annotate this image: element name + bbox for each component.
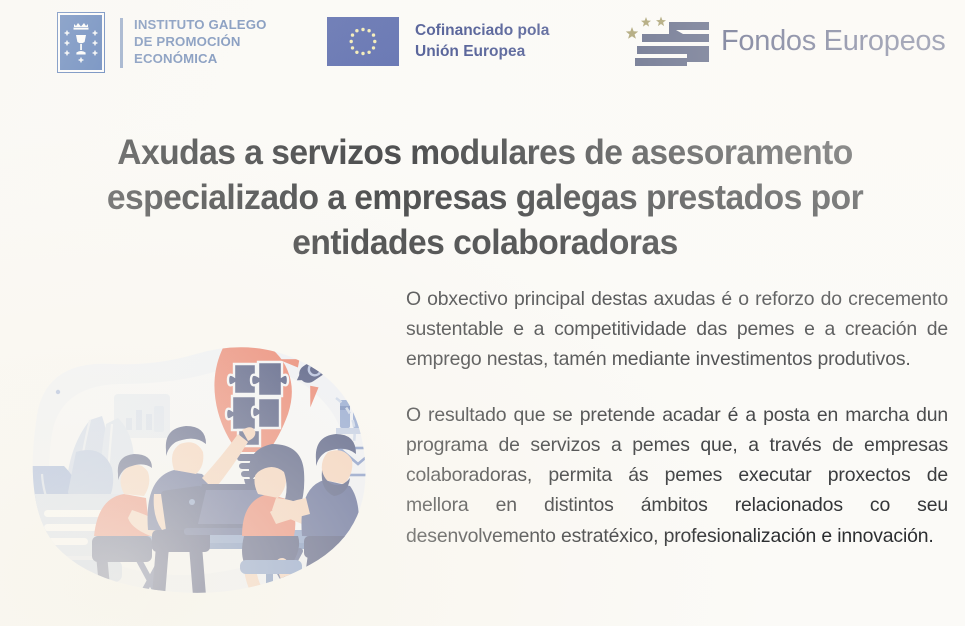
poster-page: INSTITUTO GALEGO DE PROMOCIÓN ECONÓMICA	[0, 0, 965, 626]
logo-european-union: Cofinanciado pola Unión Europea	[327, 17, 549, 66]
logo-bar: INSTITUTO GALEGO DE PROMOCIÓN ECONÓMICA	[0, 0, 965, 92]
xunta-coat-of-arms-icon	[58, 13, 104, 72]
fondos-europeos-icon	[621, 8, 711, 74]
european-union-flag-icon	[327, 17, 399, 66]
page-title: Axudas a servizos modulares de asesorame…	[58, 131, 912, 265]
body-copy: O obxectivo principal destas axudas é o …	[406, 284, 948, 551]
logo-igape: INSTITUTO GALEGO DE PROMOCIÓN ECONÓMICA	[58, 13, 267, 72]
igape-label: INSTITUTO GALEGO DE PROMOCIÓN ECONÓMICA	[134, 17, 267, 68]
logo-divider	[120, 18, 123, 68]
fondos-europeos-label: Fondos Europeos	[721, 25, 945, 58]
european-union-label: Cofinanciado pola Unión Europea	[415, 21, 549, 62]
team-collaboration-illustration	[6, 302, 398, 622]
paragraph-objective: O obxectivo principal destas axudas é o …	[406, 284, 948, 374]
logo-fondos-europeos: Fondos Europeos	[621, 8, 945, 74]
paragraph-result: O resultado que se pretende acadar é a p…	[406, 400, 948, 550]
